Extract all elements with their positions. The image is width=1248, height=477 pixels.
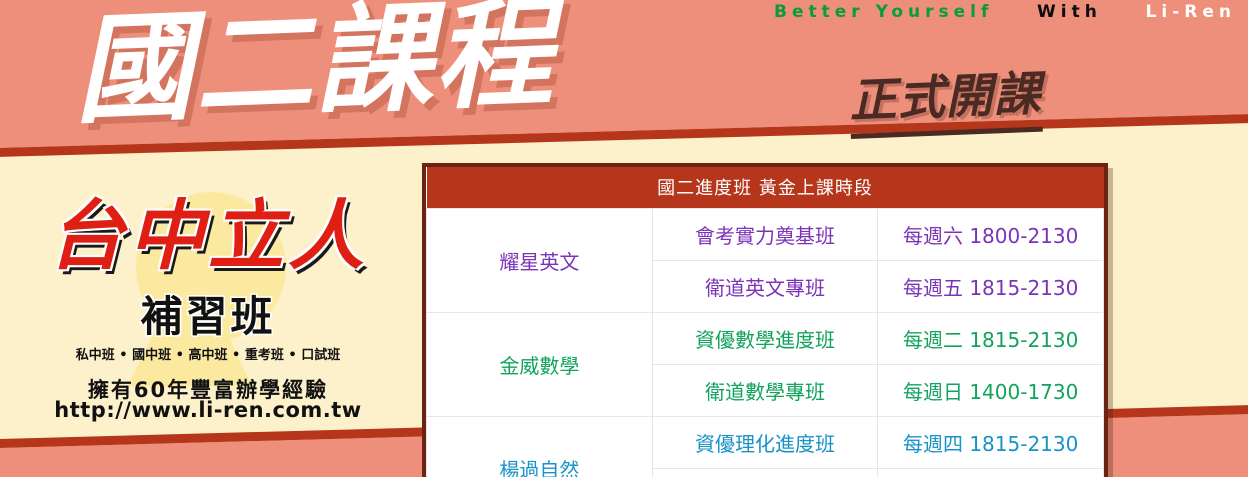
tagline-part2: With [1037,2,1102,22]
class-time-cell: 每週六 1800-2130 [878,209,1104,261]
table-header-row: 國二進度班 黃金上課時段 [427,167,1104,209]
logo-name: 台中立人 [18,198,398,274]
schedule-table: 國二進度班 黃金上課時段 耀星英文會考實力奠基班每週六 1800-2130衛道英… [426,167,1104,477]
page-subtitle: 正式開課 [848,55,1043,139]
class-name-cell: 衛道英文專班 [652,261,878,313]
class-name-cell: 衛道自然專班 [652,469,878,477]
logo-course-tags: 私中班 • 國中班 • 高中班 • 重考班 • 口試班 [18,344,398,363]
poster-canvas: Better Yourself With Li-Ren 國二課程 正式開課 台中… [0,0,1248,477]
class-time-cell: 每週日 0900-1230 [878,469,1104,477]
table-row: 楊過自然資優理化進度班每週四 1815-2130 [427,417,1104,469]
class-name-cell: 資優理化進度班 [652,417,878,469]
class-time-cell: 每週五 1815-2130 [878,261,1104,313]
schedule-header: 國二進度班 黃金上課時段 [427,167,1104,209]
logo: 台中立人 補習班 私中班 • 國中班 • 高中班 • 重考班 • 口試班 擁有6… [18,186,398,436]
class-time-cell: 每週二 1815-2130 [878,313,1104,365]
subject-cell: 耀星英文 [427,209,653,313]
schedule-table-body: 耀星英文會考實力奠基班每週六 1800-2130衛道英文專班每週五 1815-2… [427,209,1104,477]
subject-cell: 金威數學 [427,313,653,417]
page-title: 國二課程 [72,0,556,134]
class-time-cell: 每週四 1815-2130 [878,417,1104,469]
schedule-table-container: 國二進度班 黃金上課時段 耀星英文會考實力奠基班每週六 1800-2130衛道英… [422,163,1108,477]
logo-type: 補習班 [18,296,398,338]
subject-cell: 楊過自然 [427,417,653,477]
class-time-cell: 每週日 1400-1730 [878,365,1104,417]
table-row: 金威數學資優數學進度班每週二 1815-2130 [427,313,1104,365]
table-row: 耀星英文會考實力奠基班每週六 1800-2130 [427,209,1104,261]
class-name-cell: 衛道數學專班 [652,365,878,417]
tagline-part1: Better Yourself [774,2,993,22]
tagline-part3: Li-Ren [1146,2,1236,22]
background-salmon-corner [1104,416,1248,477]
logo-website-url[interactable]: http://www.li-ren.com.tw [18,398,398,422]
class-name-cell: 會考實力奠基班 [652,209,878,261]
class-name-cell: 資優數學進度班 [652,313,878,365]
